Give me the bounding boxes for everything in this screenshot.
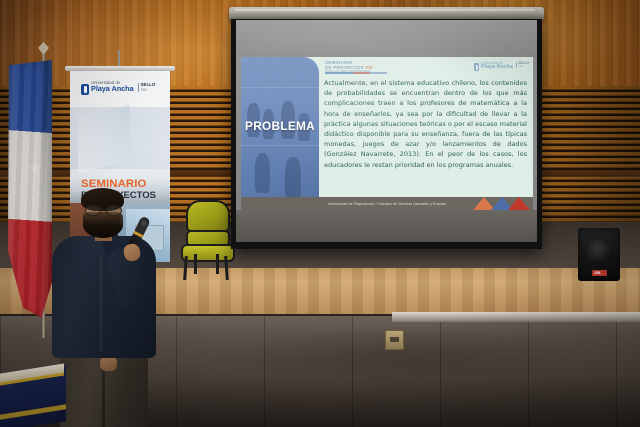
- presenter: [50, 188, 162, 427]
- slide-footer: Universidad de Playa Ancha : Facultad de…: [241, 197, 533, 210]
- power-outlet: [385, 330, 404, 350]
- auditorium-photo: Universidad de Playa Ancha SELLO TIC SEM…: [0, 0, 640, 427]
- slide-footer-text: Universidad de Playa Ancha : Facultad de…: [328, 202, 446, 206]
- slide-photo-silhouette: [285, 157, 301, 199]
- slide-sello-badge: SELLO TIC: [516, 62, 529, 68]
- banner-sello-line2: TIC: [141, 88, 156, 92]
- presenter-left-hand: [100, 356, 117, 371]
- floor-rail: [392, 312, 640, 322]
- jbl-loudspeaker: [578, 228, 620, 281]
- upa-shield-icon: [81, 84, 89, 95]
- slide-sello-line2: TIC: [518, 65, 529, 68]
- banner-hook: [118, 50, 120, 67]
- chair-leg: [183, 256, 188, 280]
- presentation-slide: PROBLEMA SEMINARIO DE PROYECTOS TIC PARA…: [241, 57, 533, 210]
- chair-backrest: [186, 200, 230, 232]
- flag-star-icon: [27, 161, 40, 174]
- footer-triangle-red: [508, 197, 530, 210]
- jbl-logo-badge: [592, 270, 607, 276]
- microphone-band: [133, 231, 143, 238]
- slide-title: PROBLEMA: [241, 119, 319, 133]
- screen-blank-area-bottom: [236, 210, 537, 242]
- banner-university-logo: Universidad de Playa Ancha SELLO TIC: [81, 81, 161, 99]
- banner-sello-badge: SELLO TIC: [138, 83, 156, 92]
- slide-header: SEMINARIO DE PROYECTOS TIC PARA LA VIDA …: [323, 60, 531, 76]
- slide-title-panel: PROBLEMA: [241, 57, 319, 210]
- upa-shield-icon: [474, 63, 480, 71]
- chair-leg: [194, 254, 197, 274]
- seminar-logo-rule: [325, 72, 387, 74]
- presenter-glasses-icon: [85, 205, 122, 214]
- projector-screen-surface: PROBLEMA SEMINARIO DE PROYECTOS TIC PARA…: [236, 20, 537, 242]
- slide-body-text: Actualmente, en el sistema educativo chi…: [324, 78, 527, 170]
- slide-photo-silhouette: [255, 153, 270, 193]
- banner-logo-line2: Playa Ancha: [91, 85, 134, 92]
- chair-leg: [216, 254, 219, 274]
- slide-logo-line2: Playa Ancha: [481, 65, 513, 71]
- slide-university-logo: Universidad de Playa Ancha SELLO TIC: [474, 61, 529, 71]
- speaker-cone: [585, 237, 613, 265]
- presenter-beard: [83, 212, 123, 238]
- screen-blank-area-top: [236, 20, 537, 57]
- banner-background-photo: [70, 107, 170, 169]
- olive-chair: [180, 200, 232, 278]
